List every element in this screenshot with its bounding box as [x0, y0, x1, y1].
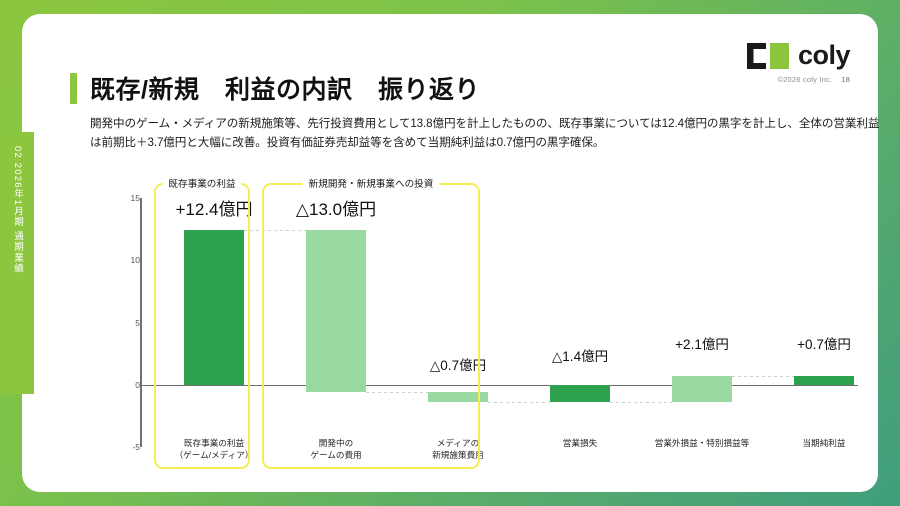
x-label-net-income: 当期純利益	[803, 437, 846, 449]
data-label-net-income: +0.7億円	[797, 333, 851, 353]
data-label-existing-profit: +12.4億円	[175, 195, 252, 220]
x-label-line-1: 当期純利益	[803, 437, 846, 449]
x-label-non-operating: 営業外損益・特別損益等	[655, 437, 750, 449]
connector-2	[366, 392, 428, 393]
lead-paragraph: 開発中のゲーム・メディアの新規施策等、先行投資費用として13.8億円を計上したも…	[90, 115, 890, 153]
section-side-tab-label: 02 2026年1月期 通期業績	[10, 146, 24, 274]
title-label: 既存/新規 利益の内訳 振り返り	[90, 70, 480, 106]
section-side-tab: 02 2026年1月期 通期業績	[0, 132, 34, 394]
data-label-media-initiative: △0.7億円	[430, 354, 486, 374]
waterfall-chart: 15 10 5 0 -5 +12.4億円 △13.0億円	[118, 169, 858, 489]
x-label-line-1: 営業損失	[563, 437, 597, 449]
x-label-game-development: 開発中の ゲームの費用	[310, 437, 361, 462]
connector-3	[488, 402, 550, 403]
bracket-label-new-investment: 新規開発・新規事業への投資	[303, 176, 440, 190]
page-title: 既存/新規 利益の内訳 振り返り	[70, 70, 480, 106]
bar-existing-profit[interactable]	[184, 230, 244, 385]
connector-5	[732, 376, 794, 377]
bar-game-development-cost[interactable]	[306, 230, 366, 392]
x-label-line-1: 開発中の	[310, 437, 361, 449]
data-label-game-development: △13.0億円	[296, 195, 376, 220]
copyright-line: ©2026 coly Inc.18	[747, 75, 850, 84]
x-label-line-1: 既存事業の利益	[175, 437, 254, 449]
data-label-non-operating: +2.1億円	[675, 333, 729, 353]
x-label-line-2: ゲームの費用	[310, 449, 361, 461]
x-label-operating-loss: 営業損失	[563, 437, 597, 449]
copyright-text: ©2026 coly Inc.	[777, 75, 832, 84]
logo-row: coly	[747, 42, 850, 69]
coly-logo-icon	[747, 43, 789, 69]
page-number: 18	[841, 75, 850, 84]
connector-1	[244, 230, 306, 231]
data-label-operating-loss: △1.4億円	[552, 345, 608, 365]
bar-media-new-initiative-cost[interactable]	[428, 392, 488, 402]
brand-logo: coly ©2026 coly Inc.18	[747, 42, 850, 84]
bracket-label-existing-business: 既存事業の利益	[162, 176, 241, 190]
x-label-line-2: （ゲーム/メディア）	[175, 449, 254, 461]
y-tick-15: 15	[118, 193, 140, 203]
y-tick-5: 5	[118, 318, 140, 328]
slide-card: coly ©2026 coly Inc.18 既存/新規 利益の内訳 振り返り …	[22, 14, 878, 492]
x-label-media-initiative: メディアの 新規施策費用	[432, 437, 484, 462]
bar-operating-loss[interactable]	[550, 385, 610, 402]
x-label-line-1: メディアの	[432, 437, 484, 449]
y-tick-10: 10	[118, 255, 140, 265]
x-label-existing-profit: 既存事業の利益 （ゲーム/メディア）	[175, 437, 254, 462]
bar-non-operating-special[interactable]	[672, 376, 732, 402]
y-tick-neg5: -5	[118, 442, 140, 452]
connector-4	[610, 402, 672, 403]
bar-group: +12.4億円 △13.0億円 △0.7億円 △1.4億円 +2.1億円 +0.…	[140, 169, 858, 489]
logo-wordmark: coly	[798, 42, 850, 69]
x-label-line-2: 新規施策費用	[432, 449, 484, 461]
y-tick-0: 0	[118, 380, 140, 390]
title-accent-bar	[70, 73, 77, 104]
bar-net-income[interactable]	[794, 376, 854, 385]
x-label-line-1: 営業外損益・特別損益等	[655, 437, 750, 449]
